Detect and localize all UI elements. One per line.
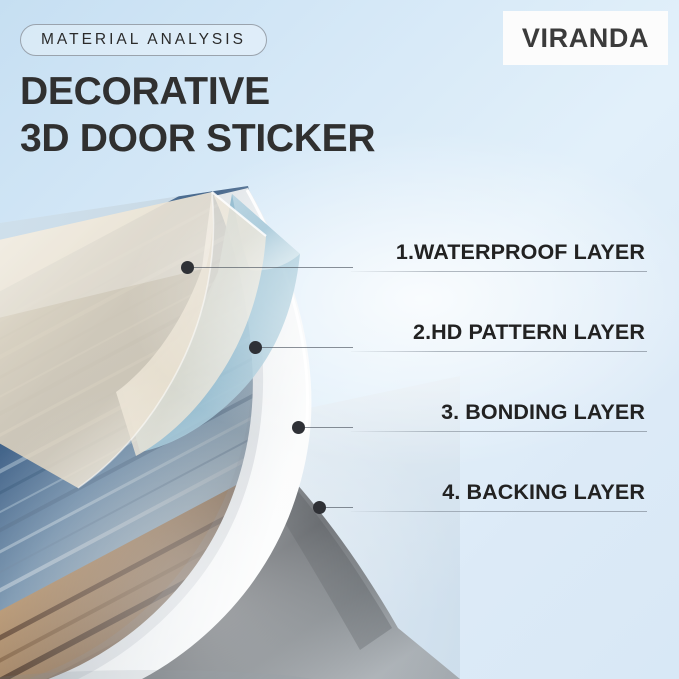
page-title-line-2: 3D DOOR STICKER	[20, 115, 375, 162]
layer-leader-3	[304, 427, 353, 428]
section-badge: MATERIAL ANALYSIS	[20, 24, 267, 56]
layer-leader-4	[325, 507, 353, 508]
layer-rule-3	[351, 431, 647, 432]
infographic-canvas: MATERIAL ANALYSIS DECORATIVE 3D DOOR STI…	[0, 0, 679, 679]
layer-marker-3	[292, 421, 305, 434]
page-title: DECORATIVE 3D DOOR STICKER	[20, 68, 375, 162]
brand-logo-text: VIRANDA	[522, 23, 649, 54]
brand-logo: VIRANDA	[503, 11, 668, 65]
layer-marker-2	[249, 341, 262, 354]
page-title-line-1: DECORATIVE	[20, 70, 270, 113]
layer-leader-2	[261, 347, 353, 348]
layer-rule-1	[351, 271, 647, 272]
layer-label-3: 3. BONDING LAYER	[441, 400, 645, 425]
layer-label-4: 4. BACKING LAYER	[442, 480, 645, 505]
product-artwork	[0, 180, 460, 679]
layer-rule-2	[351, 351, 647, 352]
section-badge-label: MATERIAL ANALYSIS	[41, 31, 246, 49]
layer-leader-1	[193, 267, 353, 268]
layer-rule-4	[351, 511, 647, 512]
layer-marker-1	[181, 261, 194, 274]
layer-label-1: 1.WATERPROOF LAYER	[396, 240, 645, 265]
layer-label-2: 2.HD PATTERN LAYER	[413, 320, 645, 345]
layer-marker-4	[313, 501, 326, 514]
